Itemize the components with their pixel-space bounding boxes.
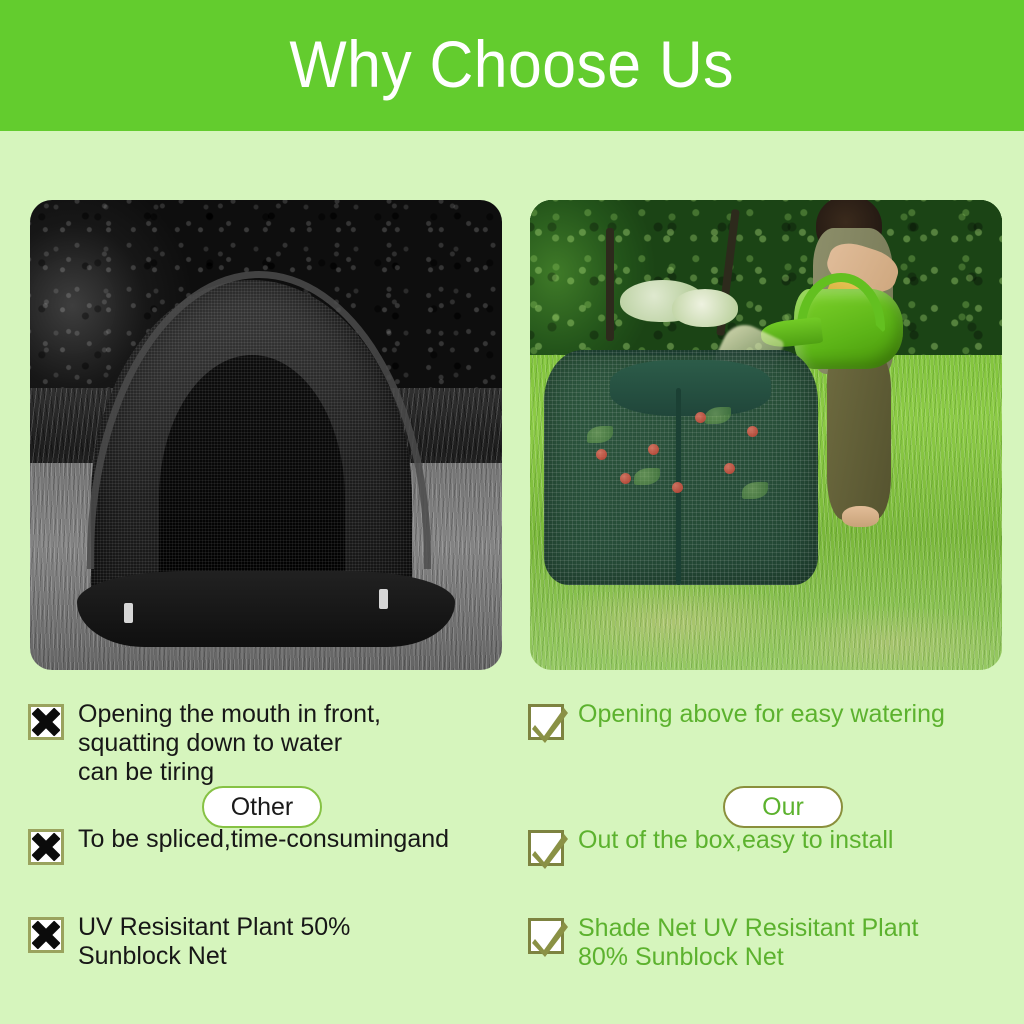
person-legs [827,355,891,520]
comparison-photo-row: Other Our [0,131,1024,691]
flowering-bush [672,289,738,327]
our-product-image-scene [530,200,1002,670]
header-banner: Why Choose Us [0,0,1024,131]
strawberry [724,463,735,474]
x-mark-icon [28,704,64,740]
strawberry [747,426,758,437]
our-feature-text: Shade Net UV Resisitant Plant 80% Sunblo… [578,914,918,972]
check-mark-icon [528,830,564,866]
list-item: Opening the mouth in front, squatting do… [28,700,528,787]
list-item: To be spliced,time-consumingand [28,825,528,865]
check-mark-icon [528,918,564,954]
tree-trunk [606,228,614,341]
other-feature-list: Opening the mouth in front, squatting do… [28,700,528,993]
list-item: UV Resisitant Plant 50% Sunblock Net [28,913,528,971]
page-title: Why Choose Us [290,31,735,97]
x-mark-icon [28,917,64,953]
feature-comparison-lists: Opening the mouth in front, squatting do… [0,700,1024,1024]
our-feature-text: Opening above for easy watering [578,700,945,729]
our-feature-text: Out of the box,easy to install [578,826,893,855]
our-feature-list: Opening above for easy watering Out of t… [528,700,1024,994]
other-feature-text: To be spliced,time-consumingand [78,825,449,854]
strawberry [672,482,683,493]
ground-peg-left [124,603,133,623]
person-foot [842,506,880,527]
other-product-image [30,200,502,670]
other-feature-text: UV Resisitant Plant 50% Sunblock Net [78,913,350,971]
strawberry [695,412,706,423]
ground-peg-right [379,589,388,609]
list-item: Opening above for easy watering [528,700,1024,740]
strawberry [620,473,631,484]
net-top-opening [610,360,770,416]
list-item: Shade Net UV Resisitant Plant 80% Sunblo… [528,914,1024,972]
other-product-image-scene [30,200,502,670]
our-product-image [530,200,1002,670]
x-mark-icon [28,829,64,865]
check-mark-icon [528,704,564,740]
tent-ground-flap [77,571,455,646]
list-item: Out of the box,easy to install [528,826,1024,866]
other-feature-text: Opening the mouth in front, squatting do… [78,700,381,787]
